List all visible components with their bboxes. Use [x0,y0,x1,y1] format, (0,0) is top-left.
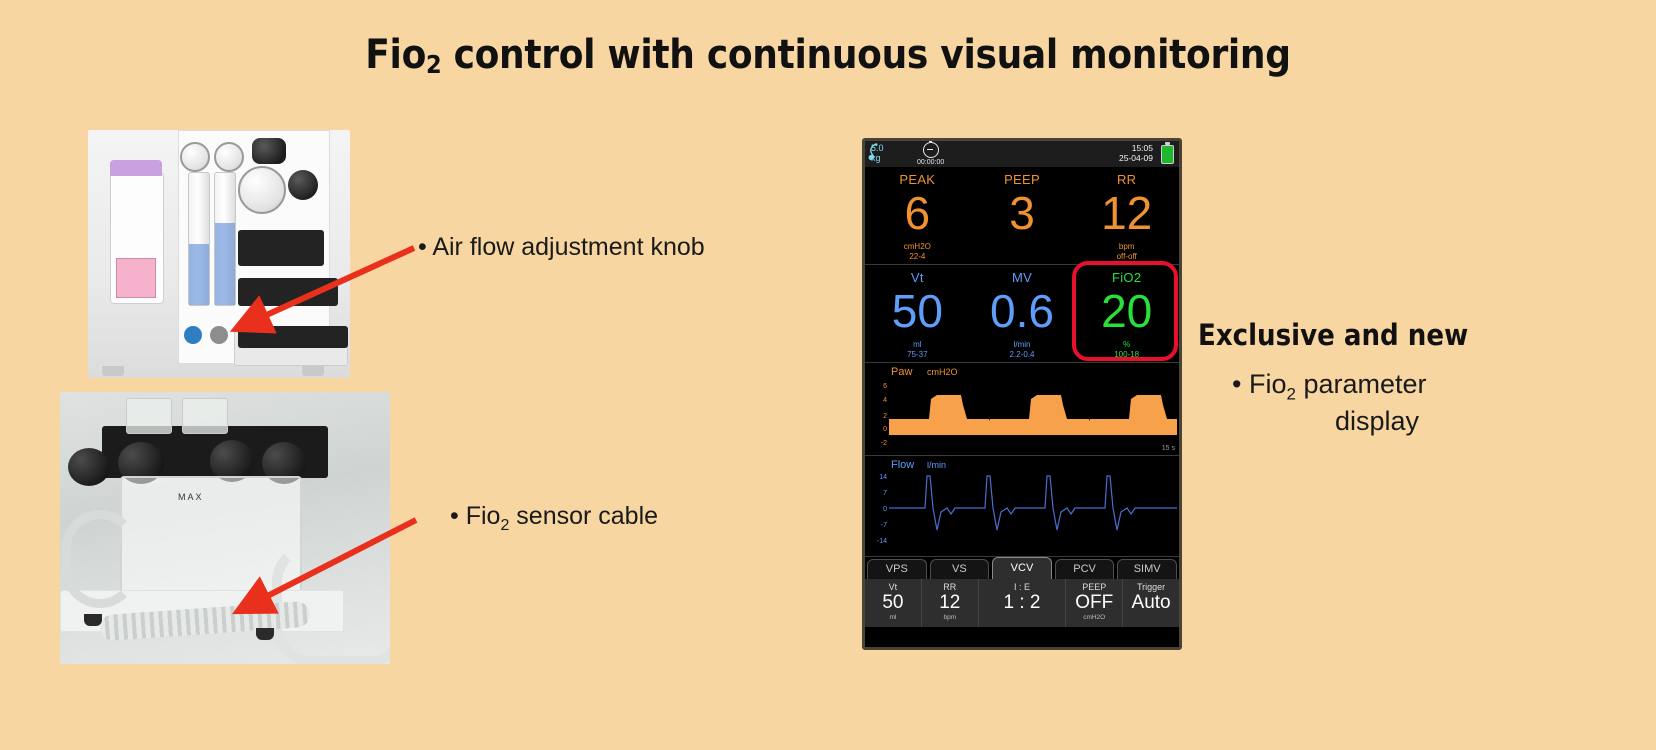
param-peep-value: OFF [1066,593,1122,613]
clock-date: 25-04-09 [1119,153,1153,163]
param-rr-label: RR [922,582,978,592]
parameter-bar: Vt 50 ml RR 12 bpm I : E 1 : 2 PEEP OFF … [865,579,1179,627]
mode-tab-vps[interactable]: VPS [867,559,927,579]
numeric-cell-mv[interactable]: MV 0.6 l/min 2.2-0.4 [970,265,1075,362]
title-subscript: 2 [426,50,441,79]
callout-cable-rest: sensor cable [509,502,658,530]
numeric-cell-peep[interactable]: PEEP 3 [970,167,1075,264]
paw-tick-3: 0 [867,426,887,433]
paw-waveform [889,375,1177,435]
flow-tick-0: 14 [867,474,887,481]
callout-cable-prefix: • Fio [450,502,500,530]
arrow-to-knob [222,236,422,346]
param-peep[interactable]: PEEP OFF cmH2O [1066,579,1123,627]
right-bullet-line2: display [1232,405,1522,439]
mv-unit: l/min [970,340,1075,349]
ventilator-monitor: 5.0 kg 00:00:00 15:05 25-04-09 PEAK 6 cm… [862,138,1182,650]
mode-tab-vs[interactable]: VS [930,559,990,579]
fio2-limits: 100-18 [1074,350,1179,359]
peep-value: 3 [970,190,1075,236]
numeric-cell-peak[interactable]: PEAK 6 cmH2O 22-4 [865,167,970,264]
timer-value: 00:00:00 [917,159,944,166]
param-trigger[interactable]: Trigger Auto [1123,579,1179,627]
case-timer[interactable]: 00:00:00 [917,142,944,166]
peak-limits: 22-4 [865,252,970,261]
rr-value: 12 [1074,190,1179,236]
rr-unit: bpm [1074,242,1179,251]
patient-weight-value: 5.0 [871,143,884,153]
vt-unit: ml [865,340,970,349]
battery-icon [1161,145,1174,164]
title-prefix: Fio [365,32,426,78]
peak-unit: cmH2O [865,242,970,251]
clock-time: 15:05 [1119,143,1153,153]
numeric-cell-vt[interactable]: Vt 50 ml 75-37 [865,265,970,362]
vt-value: 50 [865,288,970,334]
param-vt-label: Vt [865,582,921,592]
paw-tick-4: -2 [867,440,887,447]
numeric-row-1: PEAK 6 cmH2O 22-4 PEEP 3 RR 12 bpm off-o… [865,167,1179,265]
param-trigger-value: Auto [1123,593,1179,613]
flow-waveform [889,468,1177,552]
flow-tick-1: 7 [867,490,887,497]
fio2-label: FiO2 [1074,270,1179,285]
rr-limits: off-off [1074,252,1179,261]
patient-weight: 5.0 kg [871,143,884,163]
patient-weight-unit: kg [871,153,884,163]
vt-label: Vt [865,270,970,285]
param-rr[interactable]: RR 12 bpm [922,579,979,627]
mode-tab-bar: VPS VS VCV PCV SIMV [865,557,1179,579]
param-vt-value: 50 [865,593,921,613]
numeric-cell-fio2[interactable]: FiO2 20 % 100-18 [1074,265,1179,362]
right-heading: Exclusive and new [1198,318,1618,352]
arrow-to-cable [224,512,424,627]
param-ie-label: I : E [979,582,1066,592]
param-vt[interactable]: Vt 50 ml [865,579,922,627]
paw-tick-0: 6 [867,383,887,390]
fio2-unit: % [1074,340,1179,349]
callout-cable-subscript: 2 [500,517,509,534]
title-rest: control with continuous visual monitorin… [441,32,1290,78]
param-rr-unit: bpm [922,614,978,621]
mv-label: MV [970,270,1075,285]
datetime: 15:05 25-04-09 [1119,143,1153,163]
mv-value: 0.6 [970,288,1075,334]
paw-tick-2: 2 [867,413,887,420]
flow-tick-2: 0 [867,506,887,513]
param-vt-unit: ml [865,614,921,621]
right-bullet-rest: parameter [1296,369,1427,399]
waveform-panel-flow: Flow l/min 14 7 0 -7 -14 [865,456,1179,557]
mode-tab-simv[interactable]: SIMV [1117,559,1177,579]
flow-tick-3: -7 [867,522,887,529]
fio2-value: 20 [1074,288,1179,334]
waveform-panel-paw: Paw cmH2O 6 4 2 0 -2 15 s [865,363,1179,456]
monitor-status-bar: 5.0 kg 00:00:00 15:05 25-04-09 [865,141,1179,167]
paw-tick-1: 4 [867,397,887,404]
numeric-row-2: Vt 50 ml 75-37 MV 0.6 l/min 2.2-0.4 FiO2… [865,265,1179,363]
mode-tab-vcv[interactable]: VCV [992,557,1052,579]
page-title: Fio2 control with continuous visual moni… [0,32,1656,78]
param-ie[interactable]: I : E 1 : 2 [979,579,1067,627]
param-ie-value: 1 : 2 [979,593,1066,613]
right-bullet: • Fio2 parameter display [1232,368,1632,438]
mv-limits: 2.2-0.4 [970,350,1075,359]
param-peep-unit: cmH2O [1066,614,1122,621]
mode-tab-pcv[interactable]: PCV [1055,559,1115,579]
right-bullet-prefix: • Fio [1232,369,1286,399]
air-flow-knob-photo [184,326,202,344]
peep-label: PEEP [970,172,1075,187]
rear-machine-max-label: MAX [178,492,204,502]
rr-label: RR [1074,172,1179,187]
param-peep-label: PEEP [1066,582,1122,592]
flow-tick-4: -14 [867,538,887,545]
vt-limits: 75-37 [865,350,970,359]
timer-icon [923,142,939,158]
peak-value: 6 [865,190,970,236]
param-rr-value: 12 [922,593,978,613]
param-trigger-label: Trigger [1123,582,1179,592]
peak-label: PEAK [865,172,970,187]
callout-fio2-sensor-cable: • Fio2 sensor cable [450,502,658,535]
right-bullet-subscript: 2 [1286,384,1295,403]
numeric-cell-rr[interactable]: RR 12 bpm off-off [1074,167,1179,264]
callout-air-flow-knob: • Air flow adjustment knob [418,233,705,262]
paw-timescale: 15 s [1162,445,1175,452]
